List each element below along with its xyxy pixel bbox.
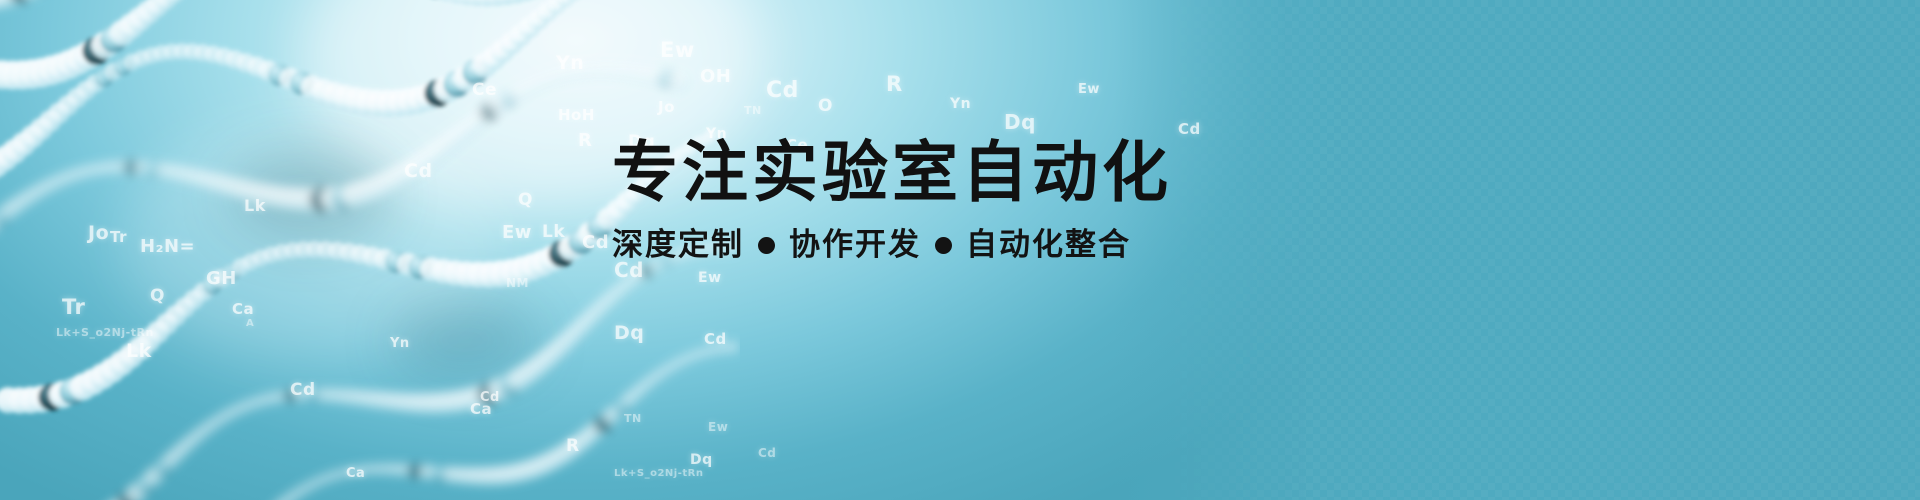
bullet-separator-icon <box>758 237 775 254</box>
subtitle-part-1: 深度定制 <box>612 227 744 264</box>
hero-banner: YnEwCdJoHoHCeYnRDqCeCdQEwLkCdLkH₂N=JoTrG… <box>0 0 1920 500</box>
subtitle-part-2: 协作开发 <box>789 227 921 264</box>
hero-subtitle: 深度定制 协作开发 自动化整合 <box>612 227 1372 264</box>
bullet-separator-icon-2 <box>935 237 952 254</box>
subtitle-part-3: 自动化整合 <box>966 227 1131 264</box>
page-title: 专注实验室自动化 <box>612 138 1372 207</box>
hero-copy-block: 专注实验室自动化 深度定制 协作开发 自动化整合 <box>612 138 1372 264</box>
